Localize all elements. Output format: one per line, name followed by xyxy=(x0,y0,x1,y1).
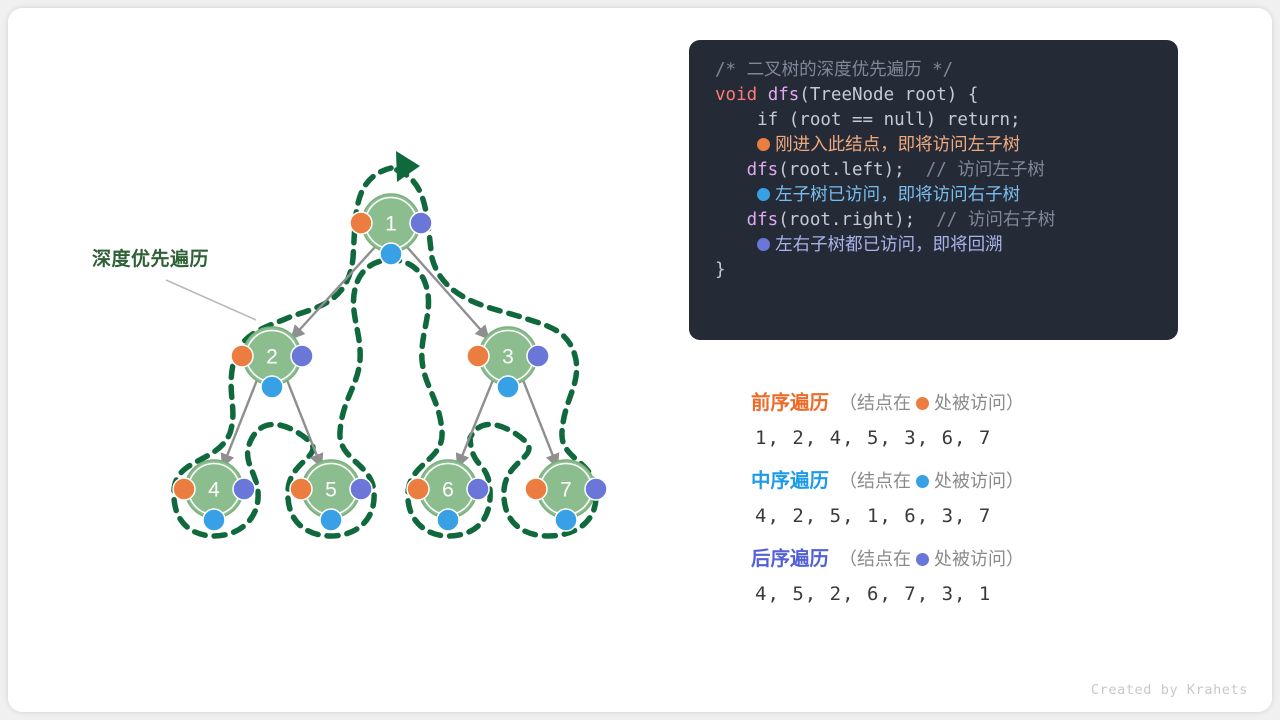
code-token: 左子树已访问，即将访问右子树 xyxy=(775,185,1020,205)
node-value-label: 3 xyxy=(502,346,514,369)
traversal-sequence-1: 4, 2, 5, 1, 6, 3, 7 xyxy=(755,505,1189,527)
node-marker-inorder xyxy=(437,509,459,531)
node-value-label: 2 xyxy=(266,346,278,369)
code-indent xyxy=(715,135,757,155)
figure-card: 1234567 深度优先遍历 /* 二叉树的深度优先遍历 */void dfs(… xyxy=(8,8,1272,712)
code-token: (root.left); xyxy=(778,160,926,180)
node-marker-inorder xyxy=(497,376,519,398)
marker-dot-orange-icon xyxy=(757,138,770,151)
node-marker-postorder xyxy=(527,345,549,367)
traversal-heading-2: 后序遍历（结点在处被访问） xyxy=(751,544,1189,574)
code-token xyxy=(715,160,747,180)
node-marker-postorder xyxy=(233,478,255,500)
node-marker-inorder xyxy=(261,376,283,398)
node-marker-preorder xyxy=(290,478,312,500)
code-token: dfs xyxy=(747,160,779,180)
code-token: if (root == null) return; xyxy=(715,110,1021,130)
tree-node-7[interactable]: 7 xyxy=(525,460,607,531)
node-marker-inorder xyxy=(320,509,342,531)
traversal-heading-1: 中序遍历（结点在处被访问） xyxy=(751,466,1189,496)
code-token: 刚进入此结点，即将访问左子树 xyxy=(775,135,1020,155)
code-indent xyxy=(715,235,757,255)
traversal-title: 后序遍历 xyxy=(751,548,829,570)
tree-nodes: 1234567 xyxy=(173,194,607,531)
tree-svg: 1234567 xyxy=(8,8,668,712)
code-line-4: dfs(root.left); // 访问左子树 xyxy=(689,158,1178,183)
traversal-note: （结点在处被访问） xyxy=(839,549,1024,569)
note-suffix: 处被访问） xyxy=(934,471,1024,491)
traversal-sequence-0: 1, 2, 4, 5, 3, 6, 7 xyxy=(755,427,1189,449)
marker-dot-purple-icon xyxy=(757,238,770,251)
code-token: (TreeNode root) { xyxy=(799,85,978,105)
node-marker-inorder xyxy=(555,509,577,531)
edge-2-4 xyxy=(223,380,257,466)
node-marker-preorder xyxy=(525,478,547,500)
node-marker-inorder xyxy=(380,243,402,265)
traversal-note: （结点在处被访问） xyxy=(839,393,1024,413)
tree-node-5[interactable]: 5 xyxy=(290,460,372,531)
node-value-label: 7 xyxy=(560,479,572,502)
tree-node-3[interactable]: 3 xyxy=(467,327,549,398)
tree-node-2[interactable]: 2 xyxy=(231,327,313,398)
node-marker-preorder xyxy=(231,345,253,367)
code-block: /* 二叉树的深度优先遍历 */void dfs(TreeNode root) … xyxy=(689,40,1178,340)
code-line-5: 左子树已访问，即将访问右子树 xyxy=(689,183,1178,208)
node-marker-postorder xyxy=(350,478,372,500)
dfs-caption-label: 深度优先遍历 xyxy=(92,244,209,271)
note-suffix: 处被访问） xyxy=(934,393,1024,413)
code-token xyxy=(715,210,747,230)
code-token: // 访问右子树 xyxy=(936,210,1055,230)
traversal-results: 前序遍历（结点在处被访问）1, 2, 4, 5, 3, 6, 7中序遍历（结点在… xyxy=(689,388,1189,622)
note-prefix: （结点在 xyxy=(839,549,911,569)
code-line-1: void dfs(TreeNode root) { xyxy=(689,83,1178,108)
code-token: // 访问左子树 xyxy=(926,160,1045,180)
marker-dot-blue-icon xyxy=(757,188,770,201)
note-prefix: （结点在 xyxy=(839,471,911,491)
node-marker-postorder xyxy=(585,478,607,500)
traversal-note: （结点在处被访问） xyxy=(839,471,1024,491)
node-value-label: 6 xyxy=(442,479,454,502)
node-marker-postorder xyxy=(410,212,432,234)
code-indent xyxy=(715,185,757,205)
node-value-label: 4 xyxy=(208,479,220,502)
traversal-heading-0: 前序遍历（结点在处被访问） xyxy=(751,388,1189,418)
code-line-3: 刚进入此结点，即将访问左子树 xyxy=(689,133,1178,158)
node-marker-preorder xyxy=(350,212,372,234)
code-line-6: dfs(root.right); // 访问右子树 xyxy=(689,208,1178,233)
code-line-8: } xyxy=(689,258,1178,283)
edge-1-3 xyxy=(407,247,488,338)
node-marker-preorder xyxy=(467,345,489,367)
note-suffix: 处被访问） xyxy=(934,549,1024,569)
edge-2-5 xyxy=(287,380,321,466)
node-marker-inorder xyxy=(203,509,225,531)
note-dot-orange-icon xyxy=(916,397,929,410)
node-marker-postorder xyxy=(291,345,313,367)
tree-node-1[interactable]: 1 xyxy=(350,194,432,265)
traversal-start-icon xyxy=(396,151,420,182)
code-token: 左右子树都已访问，即将回溯 xyxy=(775,235,1003,255)
code-token: } xyxy=(715,260,726,280)
binary-tree-diagram: 1234567 深度优先遍历 xyxy=(8,8,668,712)
traversal-sequence-2: 4, 5, 2, 6, 7, 3, 1 xyxy=(755,583,1189,605)
node-marker-preorder xyxy=(173,478,195,500)
code-token: void xyxy=(715,85,768,105)
code-token: dfs xyxy=(768,85,800,105)
node-value-label: 5 xyxy=(325,479,337,502)
note-dot-purple-icon xyxy=(916,553,929,566)
code-line-0: /* 二叉树的深度优先遍历 */ xyxy=(689,58,1178,83)
node-marker-postorder xyxy=(467,478,489,500)
code-token: (root.right); xyxy=(778,210,936,230)
note-prefix: （结点在 xyxy=(839,393,911,413)
node-value-label: 1 xyxy=(385,213,397,236)
code-line-2: if (root == null) return; xyxy=(689,108,1178,133)
code-token: /* 二叉树的深度优先遍历 */ xyxy=(715,60,953,80)
caption-pointer-line xyxy=(166,280,256,320)
code-line-7: 左右子树都已访问，即将回溯 xyxy=(689,233,1178,258)
traversal-title: 中序遍历 xyxy=(751,470,829,492)
edge-1-2 xyxy=(292,247,375,338)
note-dot-blue-icon xyxy=(916,475,929,488)
traversal-title: 前序遍历 xyxy=(751,392,829,414)
code-token: dfs xyxy=(747,210,779,230)
attribution-footer: Created by Krahets xyxy=(1091,682,1248,698)
node-marker-preorder xyxy=(407,478,429,500)
